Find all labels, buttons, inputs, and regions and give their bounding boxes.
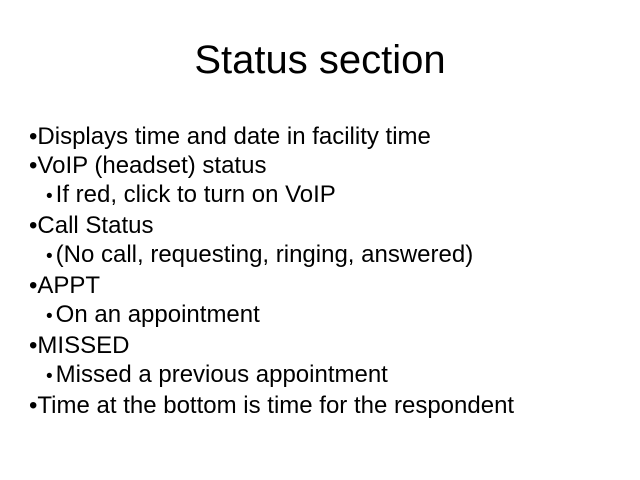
- page-title: Status section: [0, 36, 640, 84]
- bullet-point-icon: •: [46, 306, 53, 327]
- list-item: •On an appointment: [46, 300, 629, 331]
- bullet-point-icon: •: [46, 366, 53, 387]
- list-item-label: On an appointment: [53, 301, 260, 328]
- list-item-label: Displays time and date in facility time: [37, 123, 431, 150]
- list-item: •Displays time and date in facility time: [29, 122, 629, 151]
- list-item-label: Time at the bottom is time for the respo…: [37, 392, 514, 419]
- list-item: •(No call, requesting, ringing, answered…: [46, 240, 629, 271]
- list-item-label: APPT: [37, 272, 100, 299]
- list-item: •Call Status: [29, 211, 629, 240]
- list-item-label: (No call, requesting, ringing, answered): [53, 241, 474, 268]
- list-item-label: If red, click to turn on VoIP: [53, 181, 336, 208]
- list-item-label: VoIP (headset) status: [37, 152, 266, 179]
- list-item: •MISSED: [29, 331, 629, 360]
- list-item: •VoIP (headset) status: [29, 151, 629, 180]
- list-item: •Time at the bottom is time for the resp…: [29, 391, 629, 420]
- list-item: •Missed a previous appointment: [46, 360, 629, 391]
- bullet-point-icon: •: [46, 246, 53, 267]
- bullet-list: •Displays time and date in facility time…: [29, 122, 629, 420]
- bullet-point-icon: •: [46, 186, 53, 207]
- list-item: •If red, click to turn on VoIP: [46, 180, 629, 211]
- list-item-label: MISSED: [37, 332, 129, 359]
- slide-canvas: Status section •Displays time and date i…: [0, 0, 640, 480]
- list-item-label: Call Status: [37, 212, 153, 239]
- list-item-label: Missed a previous appointment: [53, 361, 388, 388]
- list-item: •APPT: [29, 271, 629, 300]
